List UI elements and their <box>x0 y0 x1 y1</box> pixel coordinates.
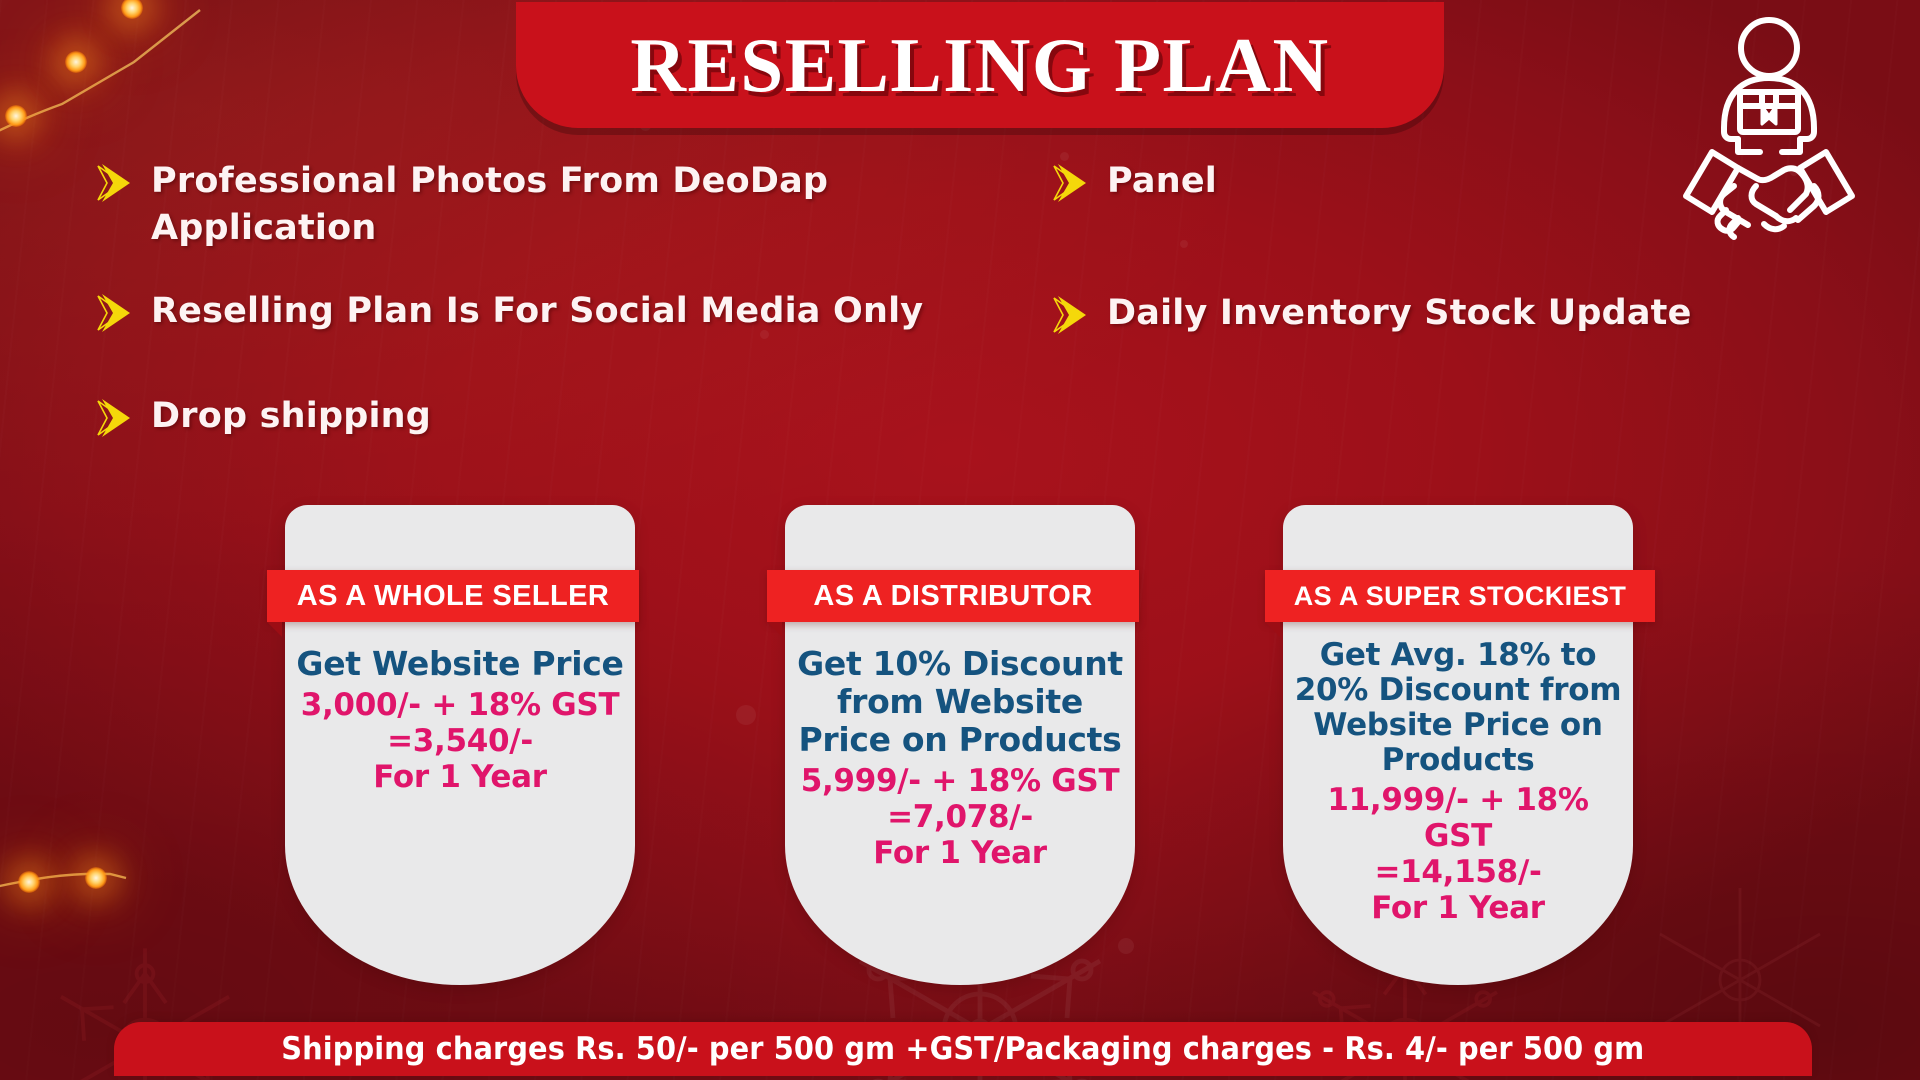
plan-price-line-2: =7,078/- <box>793 799 1127 835</box>
footer-banner: Shipping charges Rs. 50/- per 500 gm +GS… <box>114 1022 1812 1076</box>
plan-price-line-1: 5,999/- + 18% GST <box>793 763 1127 799</box>
plan-card-super-stockiest[interactable]: AS A SUPER STOCKIEST Get Avg. 18% to 20%… <box>1283 505 1633 985</box>
plan-price-line-2: =14,158/- <box>1291 854 1625 890</box>
plan-card-content: Get 10% Discount from Website Price on P… <box>785 645 1135 871</box>
plan-ribbon-label: AS A WHOLE SELLER <box>297 580 609 613</box>
plan-ribbon: AS A DISTRIBUTOR <box>767 570 1139 622</box>
plan-price-line-3: For 1 Year <box>293 759 627 795</box>
plan-card-distributor[interactable]: AS A DISTRIBUTOR Get 10% Discount from W… <box>785 505 1135 985</box>
handshake-deal-icon <box>1664 10 1874 245</box>
footer-note: Shipping charges Rs. 50/- per 500 gm +GS… <box>281 1031 1644 1067</box>
page-title-banner: RESELLING PLAN <box>516 2 1444 128</box>
plan-heading: Get 10% Discount from Website Price on P… <box>793 645 1127 759</box>
plan-price-line-1: 11,999/- + 18% GST <box>1291 782 1625 854</box>
plan-price-line-1: 3,000/- + 18% GST <box>293 687 627 723</box>
plan-ribbon: AS A SUPER STOCKIEST <box>1265 570 1655 622</box>
plan-price-line-3: For 1 Year <box>793 835 1127 871</box>
plan-heading: Get Website Price <box>293 645 627 683</box>
plan-price-line-2: =3,540/- <box>293 723 627 759</box>
ribbon-fold-icon <box>267 622 282 637</box>
page-title: RESELLING PLAN <box>630 21 1329 110</box>
plan-card-group: AS A WHOLE SELLER Get Website Price 3,00… <box>0 0 1920 1080</box>
plan-heading: Get Avg. 18% to 20% Discount from Websit… <box>1291 638 1625 778</box>
plan-card-content: Get Avg. 18% to 20% Discount from Websit… <box>1283 638 1633 926</box>
plan-price-line-3: For 1 Year <box>1291 890 1625 926</box>
ribbon-fold-icon <box>1265 622 1280 637</box>
plan-card-whole-seller[interactable]: AS A WHOLE SELLER Get Website Price 3,00… <box>285 505 635 985</box>
plan-ribbon: AS A WHOLE SELLER <box>267 570 639 622</box>
plan-ribbon-label: AS A SUPER STOCKIEST <box>1294 581 1627 612</box>
ribbon-fold-icon <box>767 622 782 637</box>
plan-ribbon-label: AS A DISTRIBUTOR <box>813 580 1092 613</box>
plan-card-content: Get Website Price 3,000/- + 18% GST =3,5… <box>285 645 635 795</box>
